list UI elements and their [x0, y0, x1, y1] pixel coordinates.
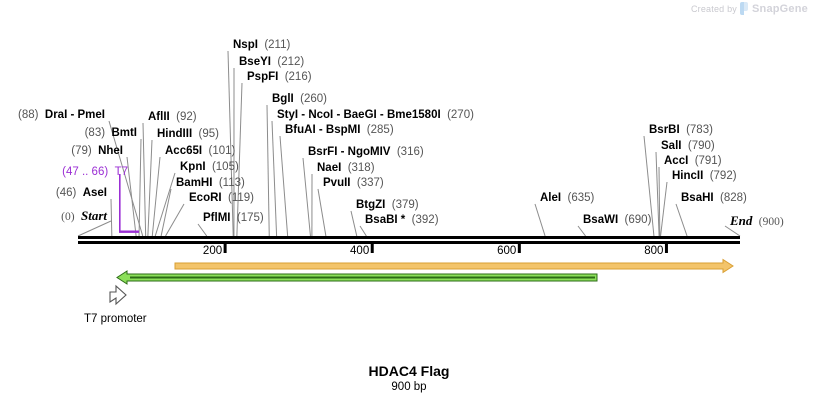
axis-tick-label: 600	[497, 245, 516, 257]
map-subtitle: 900 bp	[0, 381, 818, 393]
leader-line-acc65-1	[152, 157, 160, 236]
enzyme-label-nhe1[interactable]: (79) NheI	[0, 145, 123, 158]
axis-tick-label: 200	[203, 245, 222, 257]
enzyme-label-bsrf1grp[interactable]: BsrFI - NgoMIV (316)	[308, 146, 424, 159]
enzyme-position: (316)	[397, 146, 424, 158]
enzyme-label-bamh1[interactable]: BamHI (113)	[176, 177, 245, 190]
enzyme-position: (318)	[348, 162, 375, 174]
enzyme-position: (212)	[277, 56, 304, 68]
leader-line-nsp1	[228, 51, 233, 236]
axis-line-lower	[78, 241, 740, 244]
enzyme-position: (119)	[228, 192, 254, 204]
enzyme-label-bsah1[interactable]: BsaHI (828)	[681, 192, 747, 205]
enzyme-label-ecor1[interactable]: EcoRI (119)	[189, 192, 254, 205]
enzyme-position: (216)	[285, 71, 312, 83]
axis-tick-label: 800	[644, 245, 663, 257]
leader-line-bsab1	[360, 226, 366, 236]
axis-tick-mark	[518, 244, 521, 253]
leader-line-bamh1	[161, 189, 171, 236]
leader-line-bsah1	[676, 204, 687, 236]
enzyme-label-acc65-1[interactable]: Acc65I (101)	[165, 145, 235, 158]
leader-line-pflm1	[198, 224, 207, 236]
enzyme-position: (175)	[237, 212, 264, 224]
snapgene-brand: SnapGene	[752, 3, 808, 15]
enzyme-label-btgz1[interactable]: BtgZI (379)	[356, 199, 419, 212]
enzyme-label-pvu2[interactable]: PvuII (337)	[323, 177, 384, 190]
leader-line-ase1	[111, 199, 112, 236]
enzyme-label-bgl1[interactable]: BglI (260)	[272, 93, 327, 106]
plasmid-map-canvas: Created by SnapGene (88) DraI - PmeI(8	[0, 0, 818, 402]
leader-line-kpn1	[155, 173, 175, 236]
enzyme-label-acc1[interactable]: AccI (791)	[664, 155, 722, 168]
axis-tick-label: 400	[350, 245, 369, 257]
leader-line-ale1	[535, 204, 545, 236]
enzyme-position: (791)	[695, 155, 722, 167]
green-feature-arrow	[117, 271, 597, 284]
leader-line-acc1	[659, 167, 660, 236]
leader-line-ecor1	[166, 204, 184, 236]
enzyme-position: (79)	[71, 145, 91, 157]
enzyme-label-nae1[interactable]: NaeI (318)	[317, 162, 375, 175]
enzyme-label-hinc2[interactable]: HincII (792)	[672, 170, 737, 183]
enzyme-label-start[interactable]: (0) Start	[0, 209, 107, 224]
enzyme-position: (792)	[710, 170, 737, 182]
enzyme-position: (379)	[392, 199, 419, 211]
enzyme-label-afl2[interactable]: AflII (92)	[148, 111, 197, 124]
leader-line-nhe1	[127, 157, 136, 236]
enzyme-position: (783)	[686, 124, 713, 136]
enzyme-label-bmt1[interactable]: (83) BmtI	[0, 127, 137, 140]
leader-line-bgl1	[267, 105, 269, 236]
orange-feature-arrow	[175, 260, 733, 273]
enzyme-position: (690)	[625, 214, 652, 226]
t7-promoter-label: T7 promoter	[84, 313, 147, 325]
map-title: HDAC4 Flag	[0, 363, 818, 379]
enzyme-label-hind3[interactable]: HindIII (95)	[157, 128, 219, 141]
axis-line-upper	[78, 236, 740, 239]
enzyme-position: (83)	[85, 127, 105, 139]
enzyme-label-ase1[interactable]: (46) AseI	[0, 187, 107, 200]
leader-line-sal1	[656, 152, 659, 236]
enzyme-label-nsp1[interactable]: NspI (211)	[233, 39, 290, 52]
enzyme-label-end[interactable]: End (900)	[730, 214, 784, 229]
enzyme-position: (635)	[567, 192, 594, 204]
leader-line-bsrf1grp	[303, 158, 310, 236]
enzyme-position: (0)	[61, 211, 74, 223]
axis-tick-mark	[371, 244, 374, 253]
enzyme-position: (95)	[199, 128, 219, 140]
enzyme-position: (285)	[367, 124, 394, 136]
enzyme-label-dra1-pme1[interactable]: (88) DraI - PmeI	[0, 109, 105, 122]
enzyme-position: (88)	[18, 109, 38, 121]
enzyme-position: (337)	[357, 177, 384, 189]
enzyme-position: (113)	[219, 177, 245, 189]
enzyme-position: (92)	[176, 111, 196, 123]
leader-line-sty1grp	[272, 121, 277, 236]
enzyme-position: (105)	[212, 161, 239, 173]
enzyme-position: (47 .. 66)	[62, 166, 108, 178]
enzyme-label-bsrb1[interactable]: BsrBI (783)	[649, 124, 713, 137]
snapgene-credit: Created by SnapGene	[691, 2, 808, 15]
promoter-callout-icon	[110, 286, 126, 304]
axis-ticks	[224, 244, 668, 253]
enzyme-label-sal1[interactable]: SalI (790)	[661, 140, 715, 153]
leader-line-btgz1	[351, 211, 357, 236]
enzyme-label-bsab1[interactable]: BsaBI * (392)	[365, 214, 439, 227]
t7-promoter-feature	[119, 174, 139, 233]
leader-line-bfua1grp	[280, 136, 288, 236]
leader-line-bsaw1	[578, 226, 586, 236]
enzyme-label-bsey1[interactable]: BseYI (212)	[239, 56, 304, 69]
enzyme-position: (101)	[208, 145, 235, 157]
enzyme-label-pspf1[interactable]: PspFI (216)	[247, 71, 312, 84]
enzyme-position: (900)	[759, 216, 784, 228]
enzyme-label-pflm1[interactable]: PflMI (175)	[203, 212, 264, 225]
credit-prefix: Created by	[691, 4, 737, 14]
enzyme-label-kpn1[interactable]: KpnI (105)	[180, 161, 239, 174]
enzyme-label-ale1[interactable]: AleI (635)	[540, 192, 594, 205]
enzyme-position: (828)	[720, 192, 747, 204]
leader-line-hind3	[148, 140, 152, 236]
leader-line-bmt1	[139, 139, 141, 236]
enzyme-position: (392)	[412, 214, 439, 226]
leader-line-afl2	[143, 123, 146, 236]
enzyme-position: (211)	[264, 39, 290, 51]
enzyme-position: (260)	[300, 93, 327, 105]
enzyme-label-bfua1grp[interactable]: BfuAI - BspMI (285)	[285, 124, 394, 137]
enzyme-label-t7[interactable]: (47 .. 66) T7	[0, 166, 128, 179]
enzyme-position: (270)	[447, 109, 474, 121]
enzyme-position: (790)	[688, 140, 715, 152]
enzyme-label-bsaw1[interactable]: BsaWI (690)	[583, 214, 651, 227]
enzyme-label-sty1grp[interactable]: StyI - NcoI - BaeGI - Bme1580I (270)	[277, 109, 474, 122]
axis-tick-mark	[665, 244, 668, 253]
leader-line-pvu2	[318, 189, 326, 236]
enzyme-position: (46)	[56, 187, 76, 199]
leader-line-hinc2	[661, 182, 667, 236]
snapgene-logo-icon	[740, 2, 749, 15]
axis-tick-mark	[224, 244, 227, 253]
